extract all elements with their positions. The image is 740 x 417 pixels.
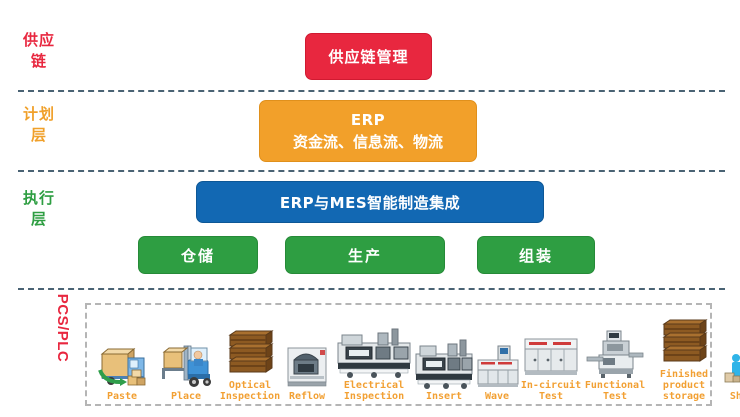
supply-chain-management-label: 供应链管理 (328, 46, 408, 67)
execution-box-assembly-label: 组装 (519, 245, 553, 266)
test-cabinet-icon (519, 329, 583, 379)
stacked-crates-icon (647, 318, 721, 368)
erp-title: ERP (351, 109, 385, 131)
tier-label-execution-layer: 执行层 (22, 188, 56, 230)
execution-box-production-label: 生产 (348, 245, 382, 266)
station-paste-label: Paste (107, 391, 137, 402)
station-in-circuit-test[interactable]: In-circuit Test (519, 329, 583, 402)
station-shipping-label: Shipping (730, 391, 740, 402)
station-reflow-label: Reflow (289, 391, 325, 402)
station-wave-label: Wave (485, 391, 509, 402)
smt-machine-icon (333, 325, 415, 379)
station-shipping[interactable]: Shipping (721, 340, 740, 402)
worker-loading-truck-icon (721, 340, 740, 390)
station-insert-label: Insert (426, 391, 462, 402)
execution-box-assembly[interactable]: 组装 (477, 236, 595, 274)
station-finished-storage[interactable]: Finished product storage (647, 318, 721, 402)
tier-label-pcs-plc: PCS/PLC (53, 283, 73, 373)
inspection-machine-icon (279, 340, 335, 390)
functional-tester-icon (583, 327, 647, 379)
erp-mes-integration-box[interactable]: ERP与MES智能制造集成 (196, 181, 544, 223)
production-line-container: Paste (85, 303, 712, 406)
station-place-label: Place (171, 391, 201, 402)
execution-box-warehouse-label: 仓储 (181, 245, 215, 266)
forklift-operator-icon (155, 340, 217, 390)
execution-box-warehouse[interactable]: 仓储 (138, 236, 258, 274)
station-wave[interactable]: Wave (473, 336, 521, 402)
station-finished-storage-label: Finished product storage (647, 369, 721, 402)
station-functional-test[interactable]: Functional Test (583, 327, 647, 402)
separator-exec-pcs (18, 288, 725, 290)
delivery-truck-boxes-icon (91, 340, 153, 390)
station-electrical-inspection[interactable]: Electrical Inspection (333, 325, 415, 402)
station-in-circuit-test-label: In-circuit Test (521, 380, 581, 402)
erp-mes-integration-label: ERP与MES智能制造集成 (280, 192, 460, 213)
station-optical-inspection-label: Optical Inspection (220, 380, 280, 402)
station-paste[interactable]: Paste (91, 340, 153, 402)
station-reflow[interactable]: Reflow (279, 340, 335, 402)
separator-plan-exec (18, 170, 725, 172)
tier-label-planning-layer: 计划层 (22, 104, 56, 146)
stacked-crates-icon (217, 329, 283, 379)
diagram-canvas: 供应链 计划层 执行层 PCS/PLC 供应链管理 ERP 资金流、信息流、物流… (0, 0, 740, 417)
tier-label-supply-chain: 供应链 (22, 30, 56, 72)
supply-chain-management-box[interactable]: 供应链管理 (305, 33, 432, 80)
station-electrical-inspection-label: Electrical Inspection (344, 380, 404, 402)
separator-supply-plan (18, 90, 725, 92)
station-functional-test-label: Functional Test (585, 380, 645, 402)
station-place[interactable]: Place (155, 340, 217, 402)
erp-subtitle: 资金流、信息流、物流 (293, 131, 443, 153)
station-insert[interactable]: Insert (413, 336, 475, 402)
reflow-oven-icon (473, 336, 521, 390)
execution-box-production[interactable]: 生产 (285, 236, 445, 274)
station-optical-inspection[interactable]: Optical Inspection (217, 329, 283, 402)
pick-place-machine-icon (413, 336, 475, 390)
erp-box[interactable]: ERP 资金流、信息流、物流 (259, 100, 477, 162)
